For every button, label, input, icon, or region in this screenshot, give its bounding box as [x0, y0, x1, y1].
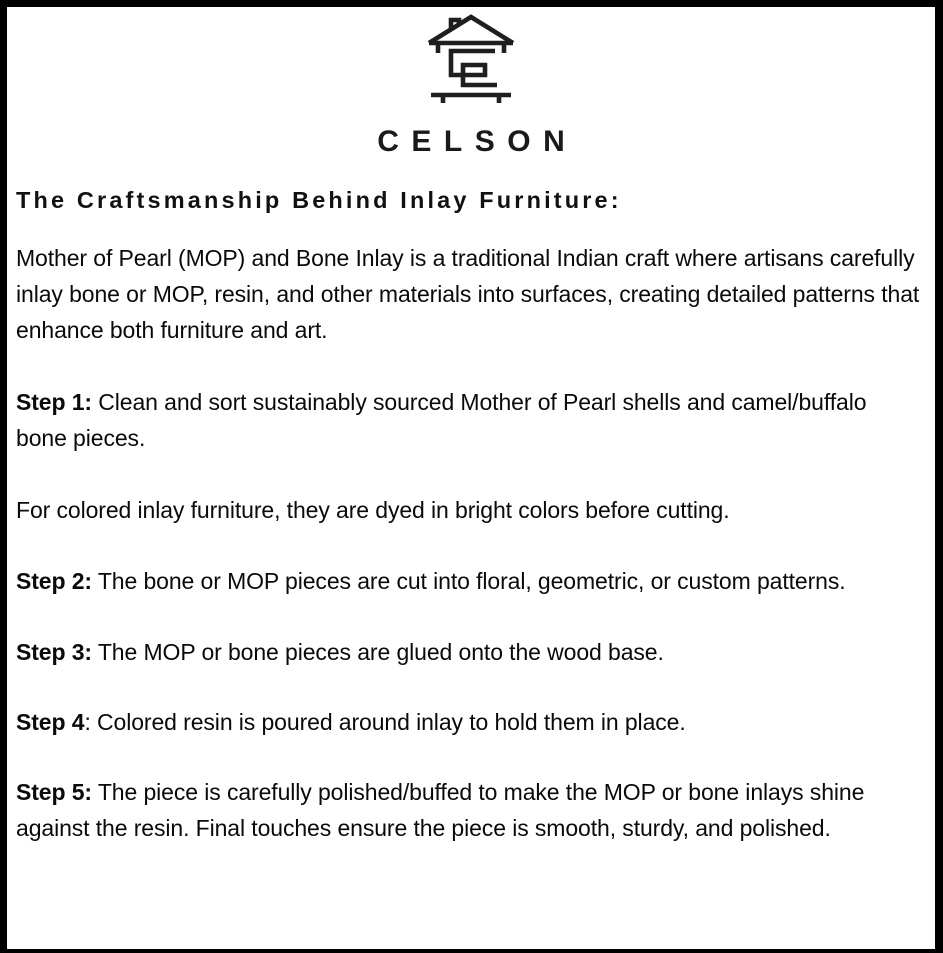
step-3-paragraph: Step 3: The MOP or bone pieces are glued…: [16, 634, 923, 670]
step-2-text: The bone or MOP pieces are cut into flor…: [92, 568, 846, 594]
frame-border-left: [0, 0, 7, 953]
dye-note-paragraph: For colored inlay furniture, they are dy…: [16, 492, 923, 528]
poster-canvas: CELSON The Craftsmanship Behind Inlay Fu…: [0, 0, 943, 953]
step-3-text: The MOP or bone pieces are glued onto th…: [92, 639, 664, 665]
brand-wordmark: CELSON: [7, 127, 935, 157]
step-1-text: Clean and sort sustainably sourced Mothe…: [16, 389, 866, 451]
brand-block: CELSON: [7, 7, 935, 157]
step-5-text: The piece is carefully polished/buffed t…: [16, 779, 864, 841]
step-2-label: Step 2:: [16, 568, 92, 594]
house-monogram-logo-icon: [425, 13, 517, 111]
intro-paragraph: Mother of Pearl (MOP) and Bone Inlay is …: [16, 240, 923, 348]
step-1-label: Step 1:: [16, 389, 92, 415]
page-title: The Craftsmanship Behind Inlay Furniture…: [16, 188, 923, 214]
step-4-paragraph: Step 4: Colored resin is poured around i…: [16, 704, 923, 740]
step-3-label: Step 3:: [16, 639, 92, 665]
frame-border-bottom: [0, 949, 943, 953]
article-body: The Craftsmanship Behind Inlay Furniture…: [7, 188, 935, 846]
step-5-paragraph: Step 5: The piece is carefully polished/…: [16, 774, 923, 846]
step-2-paragraph: Step 2: The bone or MOP pieces are cut i…: [16, 563, 923, 599]
poster-content: CELSON The Craftsmanship Behind Inlay Fu…: [7, 7, 935, 949]
step-4-text: : Colored resin is poured around inlay t…: [84, 709, 685, 735]
step-5-label: Step 5:: [16, 779, 92, 805]
step-4-label: Step 4: [16, 709, 84, 735]
step-1-paragraph: Step 1: Clean and sort sustainably sourc…: [16, 384, 923, 456]
frame-border-right: [935, 0, 943, 953]
frame-border-top: [0, 0, 943, 7]
